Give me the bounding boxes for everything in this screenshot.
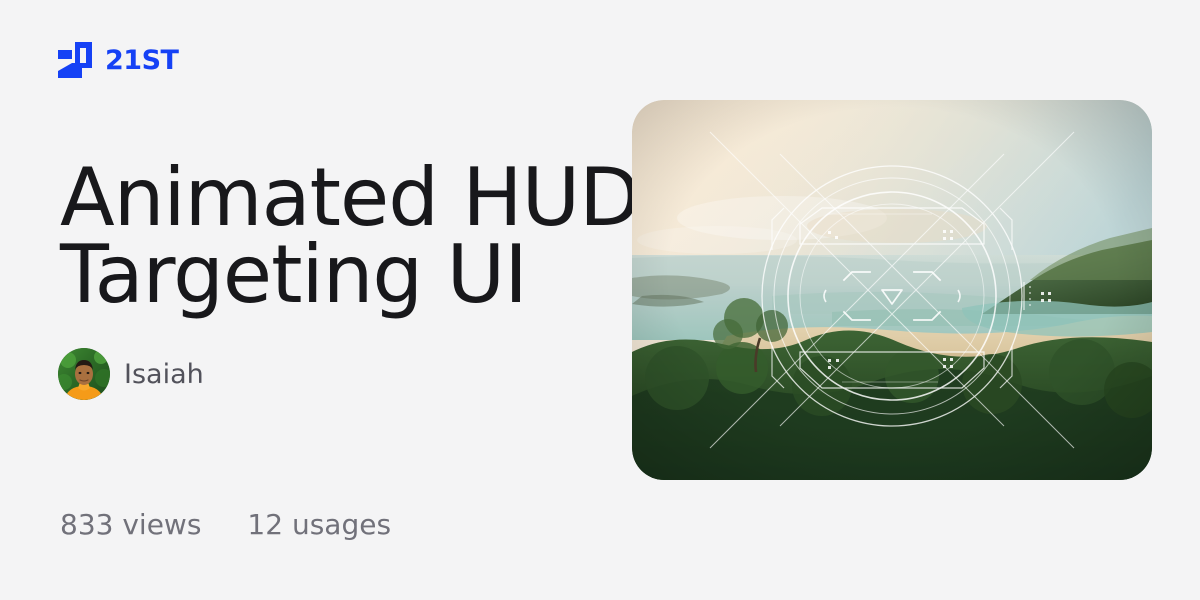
page-title: Animated HUD Targeting UI bbox=[60, 160, 660, 314]
stats-row: 833 views 12 usages bbox=[60, 508, 391, 542]
preview-image[interactable] bbox=[632, 100, 1152, 480]
brand-logo[interactable]: 21ST bbox=[58, 42, 178, 78]
21st-logo-icon bbox=[58, 42, 92, 78]
usages-count: 12 usages bbox=[247, 508, 391, 542]
preview-canvas bbox=[632, 100, 1152, 480]
brand-name: 21ST bbox=[105, 47, 178, 74]
product-card-page: 21ST Animated HUD Targeting UI bbox=[0, 0, 1200, 600]
views-count: 833 views bbox=[60, 508, 201, 542]
avatar bbox=[58, 348, 110, 400]
author-name: Isaiah bbox=[124, 361, 204, 388]
author-block[interactable]: Isaiah bbox=[58, 348, 204, 400]
